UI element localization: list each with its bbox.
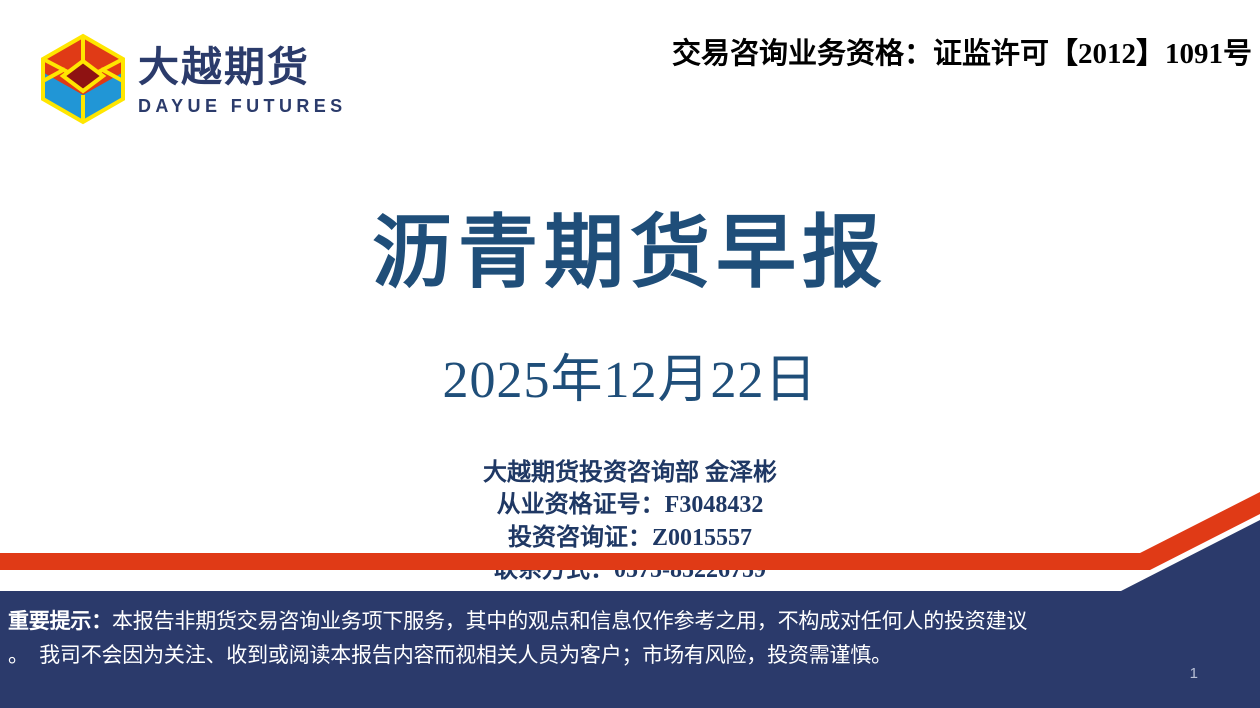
analyst-department-name: 大越期货投资咨询部 金泽彬 [0,457,1260,489]
disclaimer-text: 重要提示：本报告非期货交易咨询业务项下服务，其中的观点和信息仅作参考之用，不构成… [8,605,1200,673]
page-title: 沥青期货早报 [0,212,1260,296]
logo-name-cn: 大越期货 [138,47,310,88]
disclaimer-lead-label: 重要提示： [8,610,112,633]
footer-band: 重要提示：本报告非期货交易咨询业务项下服务，其中的观点和信息仅作参考之用，不构成… [0,591,1260,708]
analyst-info-block: 大越期货投资咨询部 金泽彬 从业资格证号：F3048432 投资咨询证：Z001… [0,457,1260,587]
page-number: 1 [1190,665,1198,682]
analyst-practice-number: 从业资格证号：F3048432 [0,489,1260,521]
qualification-statement: 交易咨询业务资格：证监许可【2012】1091号 [672,30,1252,72]
analyst-consulting-number: 投资咨询证：Z0015557 [0,522,1260,554]
disclaimer-line-2: 。 我司不会因为关注、收到或阅读本报告内容而视相关人员为客户；市场有风险，投资需… [8,639,1200,673]
dayue-cube-logo-icon [40,33,126,125]
slide-cover: 大越期货 DAYUE FUTURES 交易咨询业务资格：证监许可【2012】10… [0,0,1260,708]
report-date: 2025年12月22日 [0,352,1260,409]
logo-wordmark: 大越期货 DAYUE FUTURES [138,43,347,115]
disclaimer-line-1: 本报告非期货交易咨询业务项下服务，其中的观点和信息仅作参考之用，不构成对任何人的… [112,610,1027,633]
analyst-contact-phone: 联系方式：0575-85226759 [0,554,1260,586]
company-logo: 大越期货 DAYUE FUTURES [40,33,347,125]
logo-name-en: DAYUE FUTURES [138,97,347,115]
